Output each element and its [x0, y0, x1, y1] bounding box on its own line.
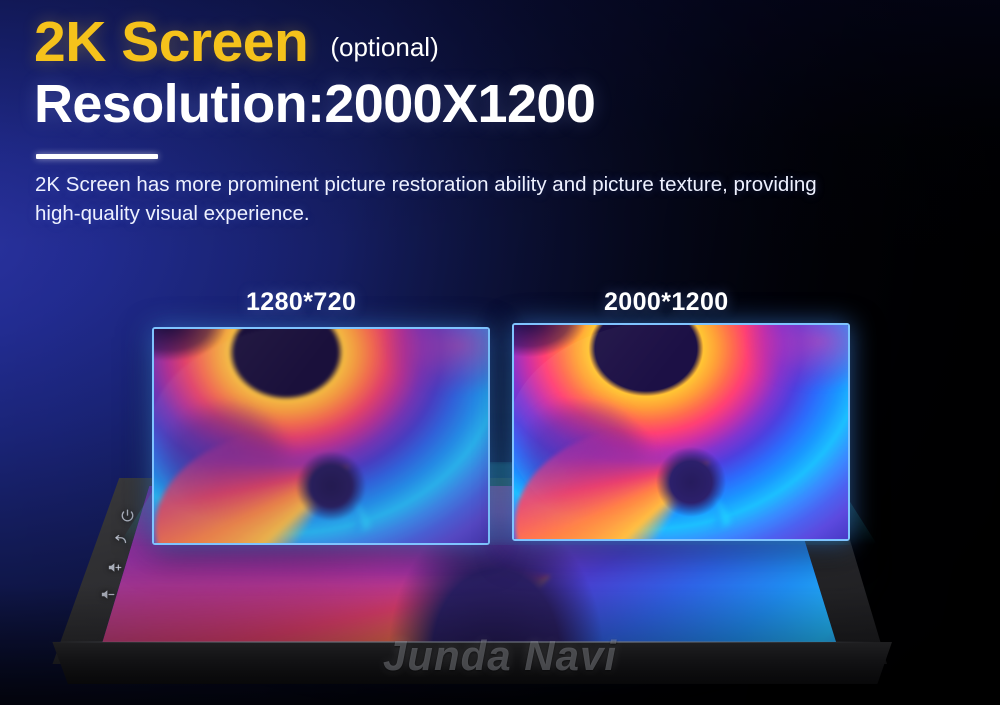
device-base [30, 642, 892, 684]
description-text: 2K Screen has more prominent picture res… [35, 170, 865, 228]
promo-banner: 2K Screen (optional) Resolution:2000X120… [0, 0, 1000, 705]
headline-title: 2K Screen [34, 14, 308, 71]
optional-badge: (optional) [330, 34, 438, 60]
device-base-highlight [48, 641, 874, 643]
return-icon[interactable] [113, 534, 128, 549]
caption-low-resolution: 1280*720 [246, 288, 356, 317]
headline-row: 2K Screen (optional) [34, 14, 439, 71]
wallpaper-high-res [512, 323, 850, 541]
power-icon[interactable] [120, 508, 135, 523]
wallpaper-low-res [152, 327, 490, 545]
title-divider [36, 154, 158, 159]
volume-up-icon[interactable] [107, 560, 123, 575]
screen-preview-low-res[interactable] [152, 327, 490, 545]
volume-down-icon[interactable] [100, 587, 116, 602]
caption-high-resolution: 2000*1200 [604, 288, 729, 317]
resolution-subtitle: Resolution:2000X1200 [34, 75, 595, 134]
screen-preview-high-res[interactable] [512, 323, 850, 541]
